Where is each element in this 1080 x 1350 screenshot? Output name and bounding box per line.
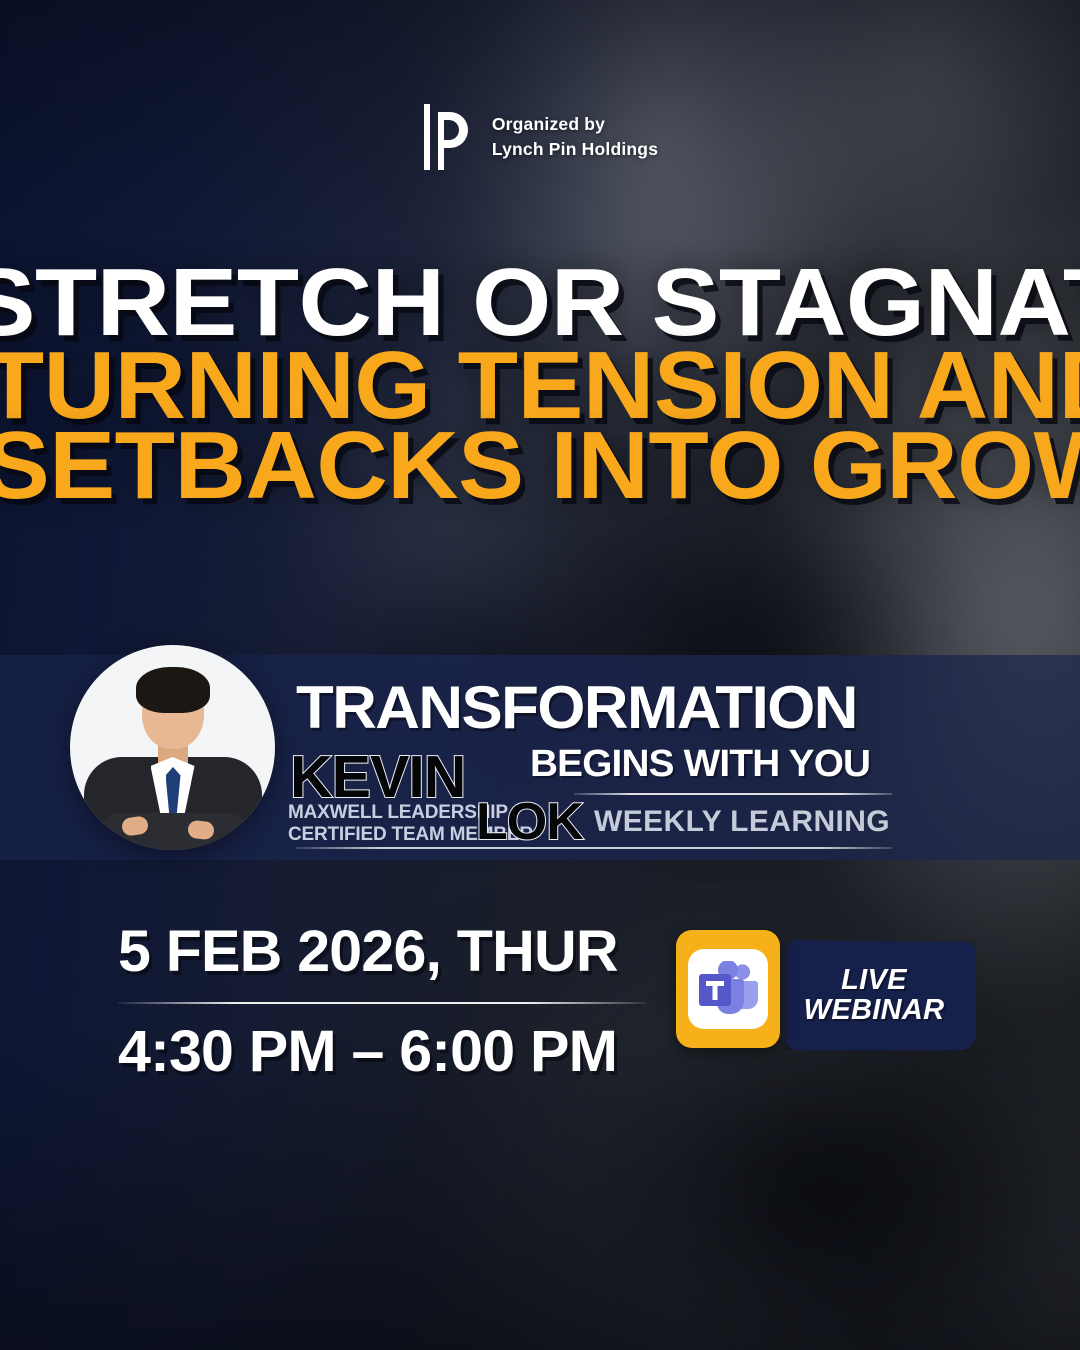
divider-banner-bottom [296,847,892,849]
badge-line-1: LIVE [786,965,962,995]
badge-line-2: WEBINAR [786,995,962,1025]
tagline-bottom: BEGINS WITH YOU [530,743,870,786]
organizer-text: Organized by Lynch Pin Holdings [492,112,658,162]
lp-monogram-logo-icon [422,104,470,170]
webinar-poster: Organized by Lynch Pin Holdings STRETCH … [0,0,1080,1350]
headline-block: STRETCH OR STAGNATE: TURNING TENSION AND… [0,258,1080,510]
divider-banner-middle [574,793,892,795]
speaker-first-name: KEVIN [290,743,465,811]
tagline-top: TRANSFORMATION [296,673,857,742]
organizer-line-2: Lynch Pin Holdings [492,137,658,162]
microsoft-teams-icon [688,949,768,1029]
teams-tile [676,930,780,1048]
platform-block: LIVE WEBINAR [676,930,976,1062]
divider-datetime [118,1002,646,1004]
headline-line-3: SETBACKS INTO GROWTH [0,421,1080,510]
organizer-block: Organized by Lynch Pin Holdings [0,104,1080,170]
live-webinar-badge: LIVE WEBINAR [786,940,976,1050]
event-datetime: 5 FEB 2026, THUR 4:30 PM – 6:00 PM [118,918,658,1085]
live-webinar-text: LIVE WEBINAR [786,965,962,1025]
speaker-banner-text: TRANSFORMATION BEGINS WITH YOU WEEKLY LE… [0,655,1080,860]
event-time: 4:30 PM – 6:00 PM [118,1018,669,1085]
series-label: WEEKLY LEARNING [594,805,890,839]
organizer-line-1: Organized by [492,112,658,137]
event-date: 5 FEB 2026, THUR [118,918,669,985]
speaker-last-name: LOK [476,792,583,852]
